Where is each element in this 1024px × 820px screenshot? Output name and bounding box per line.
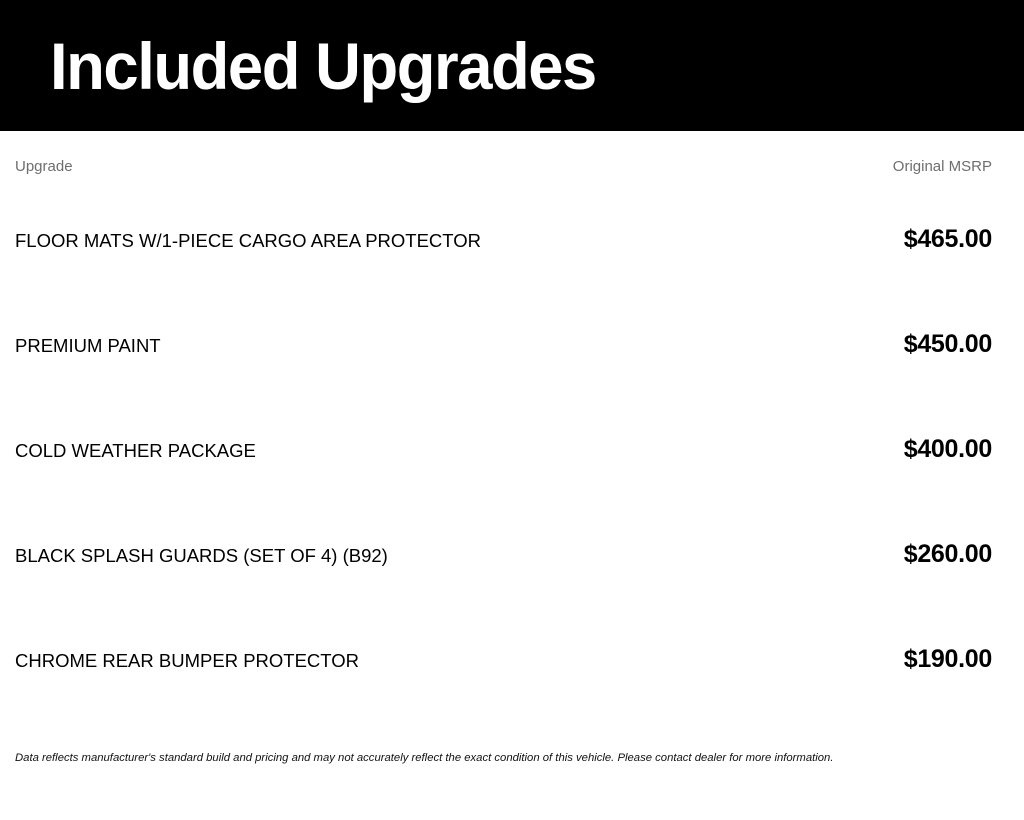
upgrade-price: $400.00 [904,437,992,462]
table-row: PREMIUM PAINT $450.00 [15,332,992,437]
upgrade-name: COLD WEATHER PACKAGE [15,442,256,461]
page-header-bar: Included Upgrades [0,0,1024,131]
table-row: COLD WEATHER PACKAGE $400.00 [15,437,992,542]
table-row: BLACK SPLASH GUARDS (SET OF 4) (B92) $26… [15,542,992,647]
upgrade-price: $465.00 [904,227,992,252]
column-header-upgrade: Upgrade [15,159,73,174]
upgrade-name: BLACK SPLASH GUARDS (SET OF 4) (B92) [15,547,388,566]
table-column-header-row: Upgrade Original MSRP [15,131,992,199]
upgrade-price: $190.00 [904,647,992,672]
upgrade-name: CHROME REAR BUMPER PROTECTOR [15,652,359,671]
column-header-original-msrp: Original MSRP [893,159,992,174]
upgrade-price: $260.00 [904,542,992,567]
table-body: FLOOR MATS W/1-PIECE CARGO AREA PROTECTO… [15,227,992,752]
table-row: FLOOR MATS W/1-PIECE CARGO AREA PROTECTO… [15,227,992,332]
upgrade-name: FLOOR MATS W/1-PIECE CARGO AREA PROTECTO… [15,232,481,251]
footer: Data reflects manufacturer's standard bu… [0,752,1024,820]
upgrade-name: PREMIUM PAINT [15,337,161,356]
upgrades-table: Upgrade Original MSRP FLOOR MATS W/1-PIE… [0,131,1024,752]
disclaimer-text: Data reflects manufacturer's standard bu… [15,752,833,766]
upgrade-price: $450.00 [904,332,992,357]
table-row: CHROME REAR BUMPER PROTECTOR $190.00 [15,647,992,752]
page-title: Included Upgrades [50,33,596,99]
included-upgrades-page: Included Upgrades Upgrade Original MSRP … [0,0,1024,768]
